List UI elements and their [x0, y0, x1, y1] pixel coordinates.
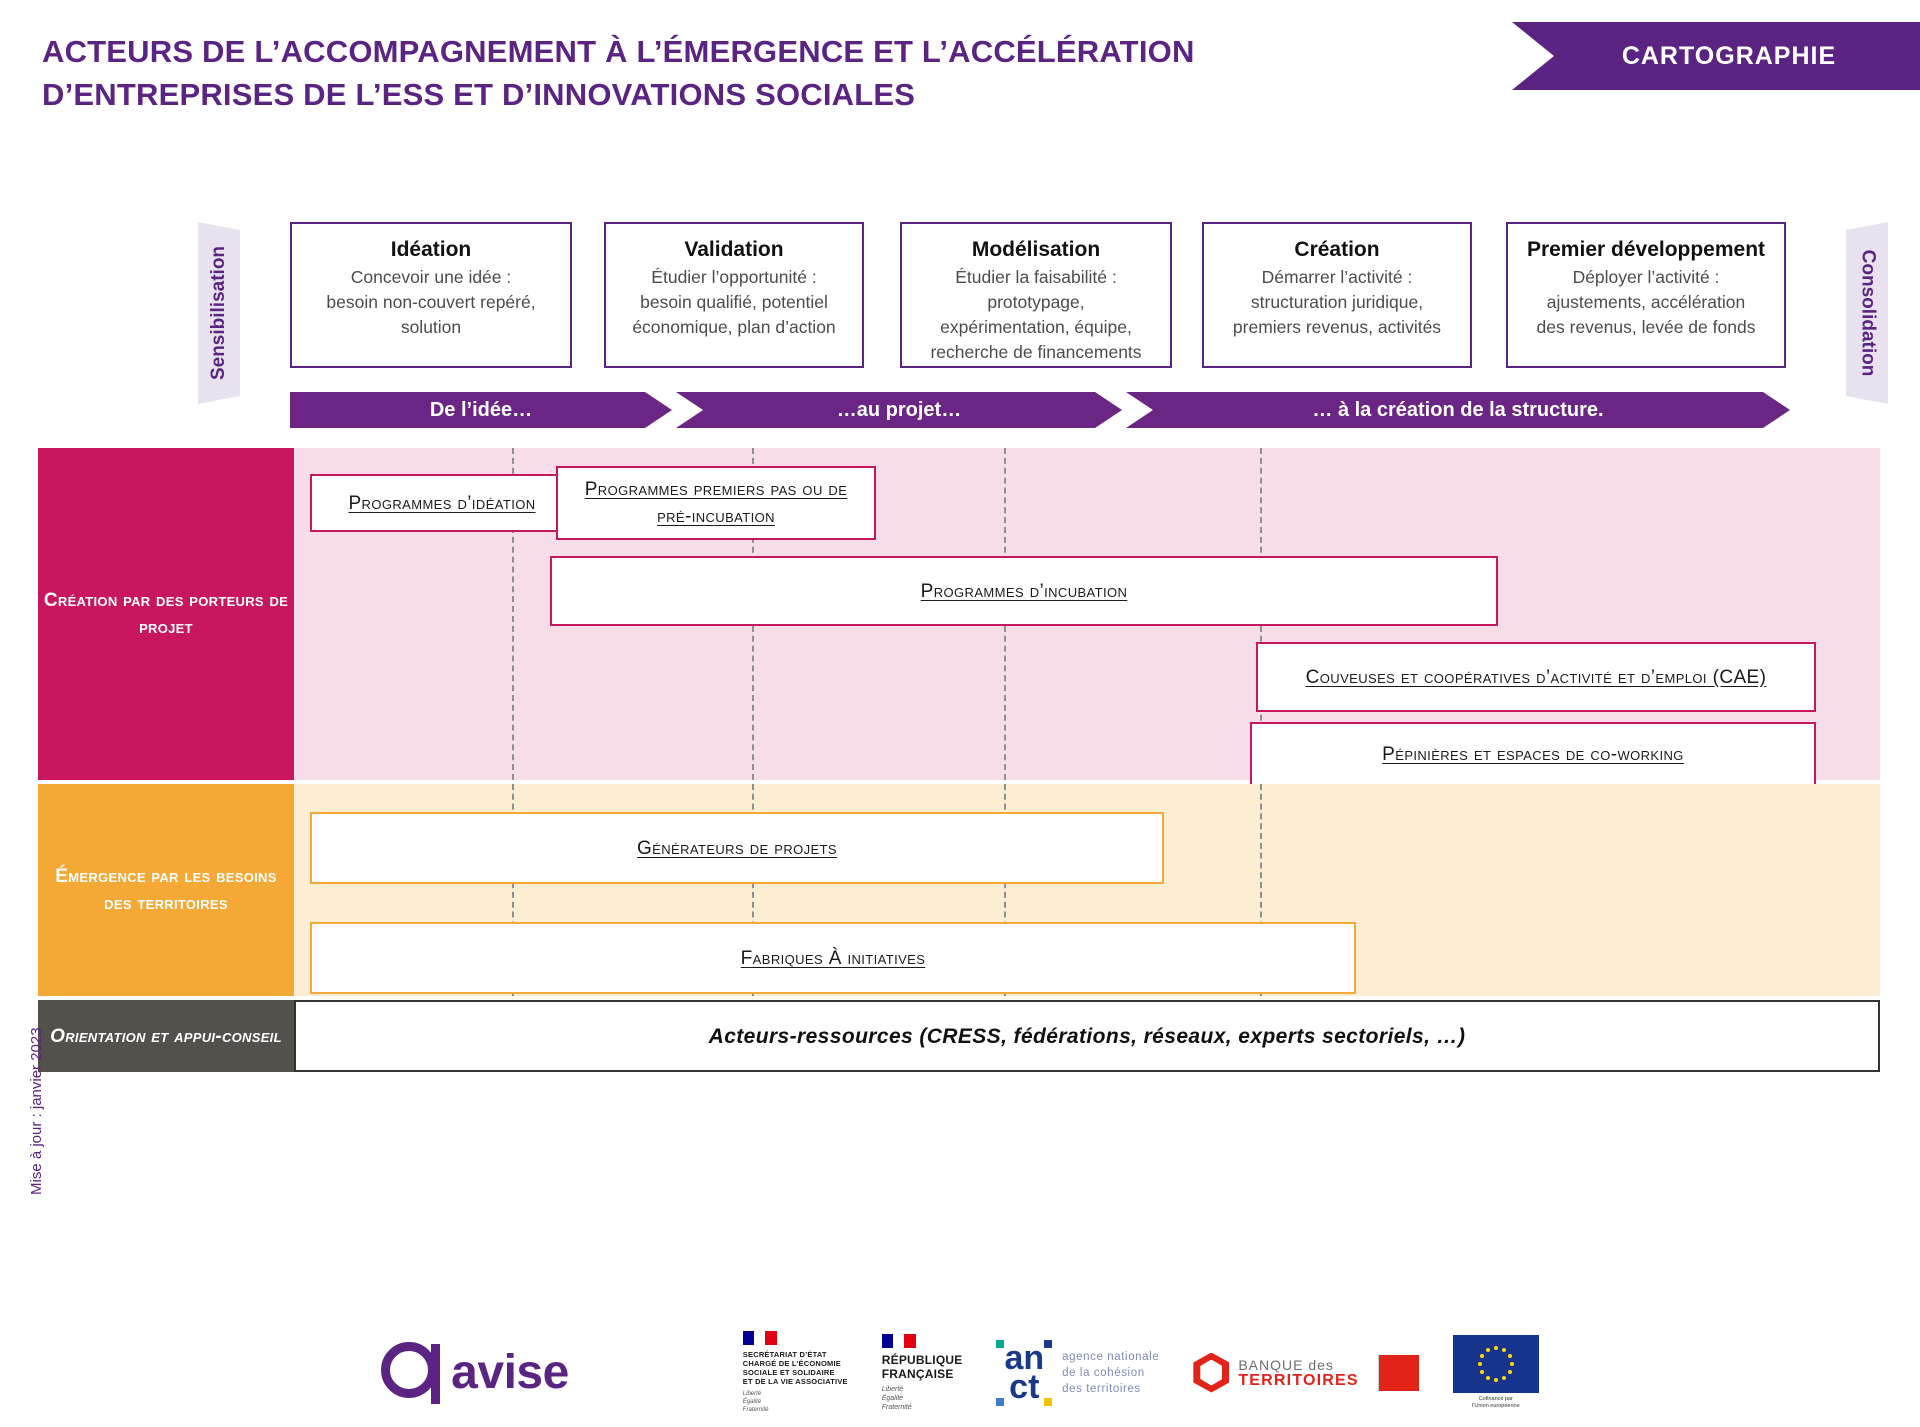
phase-desc: Étudier l’opportunité :besoin qualifié, …: [614, 265, 854, 340]
item-label: Générateurs de projets: [637, 835, 837, 862]
item-pepinieres-coworking[interactable]: Pépinières et espaces de co-working: [1250, 722, 1816, 786]
side-tab-sensibilisation: Sensibilisation: [198, 222, 240, 404]
hexagon-icon: [1193, 1353, 1229, 1393]
arrow-segment-label: De l’idée…: [430, 399, 532, 422]
cartographie-label: CARTOGRAPHIE: [1562, 42, 1836, 71]
band-label-text: Émergence par les besoins des territoire…: [42, 863, 290, 917]
item-label: Pépinières et espaces de co-working: [1382, 741, 1684, 768]
page-title-line-1: ACTEURS DE L’ACCOMPAGNEMENT À L’ÉMERGENC…: [42, 30, 1542, 73]
item-label: Programmes d’incubation: [921, 578, 1128, 605]
eu-flag-icon: [1453, 1335, 1539, 1393]
republic-motto: LibertéÉgalitéFraternité: [743, 1390, 848, 1414]
eu-caption: Cofinancé parl’Union européenne: [1472, 1396, 1520, 1410]
item-programmes-premiers-pas[interactable]: Programmes premiers pas ou de pré-incuba…: [556, 466, 876, 540]
band-body: Acteurs-ressources (CRESS, fédérations, …: [294, 1000, 1880, 1072]
phase-desc: Étudier la faisabilité :prototypage,expé…: [910, 265, 1162, 365]
phase-desc: Démarrer l’activité :structuration jurid…: [1212, 265, 1462, 340]
band-label-text: Orientation et appui-conseil: [50, 1023, 282, 1050]
arrow-segment-label: …au projet…: [837, 399, 961, 422]
phase-row: Sensibilisation Consolidation Idéation C…: [0, 222, 1920, 372]
item-label: Programmes premiers pas ou de pré-incuba…: [572, 476, 860, 530]
page-title: ACTEURS DE L’ACCOMPAGNEMENT À L’ÉMERGENC…: [42, 30, 1542, 116]
bdt-line-1: BANQUE des: [1238, 1358, 1358, 1373]
anct-logo: an ct agence nationalede la cohésiondes …: [996, 1340, 1159, 1406]
republique-francaise-logo: RÉPUBLIQUEFRANÇAISE LibertéÉgalitéFrater…: [882, 1334, 963, 1412]
phase-desc: Déployer l’activité :ajustements, accélé…: [1516, 265, 1776, 340]
item-fabriques-a-initiatives[interactable]: Fabriques À initiatives: [310, 922, 1356, 994]
update-note-text: Mise à jour : janvier 2023: [28, 1027, 45, 1195]
phase-title: Idéation: [300, 236, 562, 263]
phase-title: Création: [1212, 236, 1462, 263]
actor-matrix: Création par des porteurs de projet Prog…: [38, 448, 1880, 1072]
page-title-line-2: D’ENTREPRISES DE L’ESS ET D’INNOVATIONS …: [42, 73, 1542, 116]
european-union-logo: Cofinancé parl’Union européenne: [1453, 1335, 1539, 1410]
phase-box-creation: Création Démarrer l’activité :structurat…: [1202, 222, 1472, 368]
phase-title: Validation: [614, 236, 854, 263]
phase-box-validation: Validation Étudier l’opportunité :besoin…: [604, 222, 864, 368]
side-tab-consolidation: Consolidation: [1846, 222, 1888, 404]
page-header: ACTEURS DE L’ACCOMPAGNEMENT À L’ÉMERGENC…: [0, 0, 1920, 150]
republique-text: RÉPUBLIQUEFRANÇAISE: [882, 1353, 963, 1381]
phase-desc: Concevoir une idée :besoin non-couvert r…: [300, 265, 562, 340]
update-note: Mise à jour : janvier 2023: [6, 1010, 36, 1210]
french-flag-icon: [882, 1334, 916, 1348]
band-label-text: Création par des porteurs de projet: [42, 587, 290, 641]
avise-logo: avise: [381, 1342, 569, 1404]
arrow-segment-idee: De l’idée…: [290, 392, 672, 428]
band-emergence-besoins-territoires: Émergence par les besoins des territoire…: [38, 784, 1880, 996]
band-label: Émergence par les besoins des territoire…: [38, 784, 294, 996]
arrow-segment-structure: … à la création de la structure.: [1126, 392, 1790, 428]
item-label: Acteurs-ressources (CRESS, fédérations, …: [709, 1023, 1466, 1050]
phase-box-premier-developpement: Premier développement Déployer l’activit…: [1506, 222, 1786, 368]
item-label: Programmes d’idéation: [348, 490, 535, 517]
phase-title: Premier développement: [1516, 236, 1776, 263]
band-body: Générateurs de projets Fabriques À initi…: [294, 784, 1880, 996]
band-creation-porteurs-de-projet: Création par des porteurs de projet Prog…: [38, 448, 1880, 780]
phase-title: Modélisation: [910, 236, 1162, 263]
item-label: Fabriques À initiatives: [741, 945, 926, 972]
avise-mark-icon: [381, 1342, 443, 1404]
band-label: Orientation et appui-conseil: [38, 1000, 294, 1072]
band-label: Création par des porteurs de projet: [38, 448, 294, 780]
avise-wordmark: avise: [451, 1345, 569, 1400]
anct-text: agence nationalede la cohésiondes territ…: [1062, 1349, 1159, 1397]
banque-des-territoires-logo: BANQUE des TERRITOIRES: [1193, 1353, 1418, 1393]
footer-logos: avise SECRÉTARIAT D’ÉTATCHARGÉ DE L’ÉCON…: [0, 1318, 1920, 1427]
phase-box-modelisation: Modélisation Étudier la faisabilité :pro…: [900, 222, 1172, 368]
item-generateurs-de-projets[interactable]: Générateurs de projets: [310, 812, 1164, 884]
republic-motto: LibertéÉgalitéFraternité: [882, 1385, 963, 1412]
band-body: Programmes d’idéation Programmes premier…: [294, 448, 1880, 780]
item-programmes-incubation[interactable]: Programmes d’incubation: [550, 556, 1498, 626]
anct-mark-icon: an ct: [996, 1340, 1052, 1406]
cartographie-banner: CARTOGRAPHIE: [1478, 22, 1920, 90]
arrow-segment-projet: …au projet…: [676, 392, 1122, 428]
phase-box-ideation: Idéation Concevoir une idée :besoin non-…: [290, 222, 572, 368]
secretariat-etat-logo: SECRÉTARIAT D’ÉTATCHARGÉ DE L’ÉCONOMIESO…: [743, 1331, 848, 1414]
secretariat-text: SECRÉTARIAT D’ÉTATCHARGÉ DE L’ÉCONOMIESO…: [743, 1350, 848, 1386]
bdt-line-2: TERRITOIRES: [1238, 1373, 1358, 1388]
side-tab-sensibilisation-label: Sensibilisation: [208, 246, 230, 380]
item-couveuses-cae[interactable]: Couveuses et coopératives d’activité et …: [1256, 642, 1816, 712]
anct-mark-bottom: ct: [1004, 1373, 1044, 1402]
arrow-segment-label: … à la création de la structure.: [1312, 399, 1603, 422]
side-tab-consolidation-label: Consolidation: [1856, 250, 1878, 377]
caisse-des-depots-mark: [1378, 1355, 1419, 1391]
progress-arrow-band: De l’idée… …au projet… … à la création d…: [0, 392, 1920, 428]
item-label: Couveuses et coopératives d’activité et …: [1306, 664, 1767, 691]
band-orientation-appui-conseil: Orientation et appui-conseil Acteurs-res…: [38, 1000, 1880, 1072]
french-flag-icon: [743, 1331, 777, 1345]
item-programmes-ideation[interactable]: Programmes d’idéation: [310, 474, 574, 532]
item-acteurs-ressources[interactable]: Acteurs-ressources (CRESS, fédérations, …: [294, 1000, 1880, 1072]
